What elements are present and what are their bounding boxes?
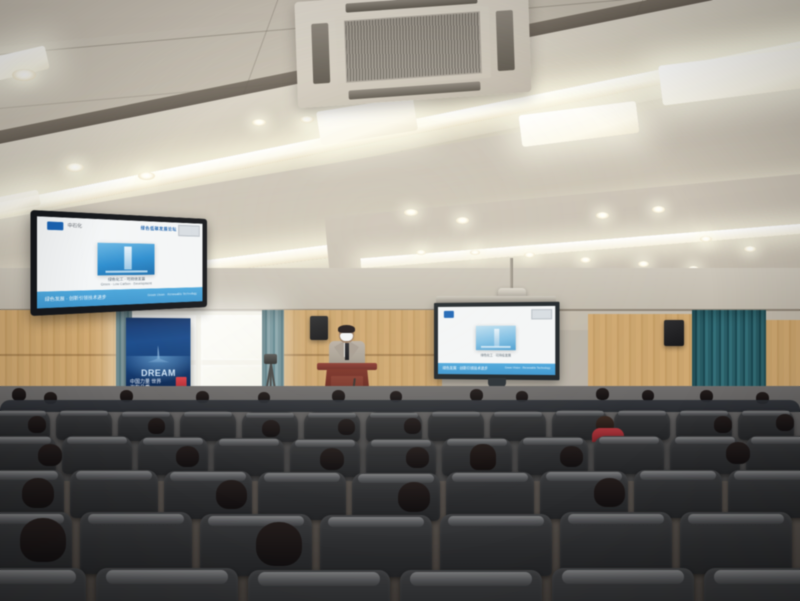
screen-slide-footer-left: 绿色发展 · 创新引领技术进步 — [443, 366, 488, 371]
auditorium-chair — [80, 512, 192, 574]
recessed-downlight — [404, 209, 418, 216]
recessed-downlight — [416, 250, 426, 255]
recessed-downlight — [138, 172, 155, 180]
tv-slide-footer-left: 绿色发展 · 创新引领技术进步 — [45, 294, 107, 303]
auditorium-chair — [594, 436, 664, 474]
audience-head — [594, 478, 625, 507]
audience-head — [22, 478, 54, 508]
auditorium-chair — [400, 570, 542, 601]
auditorium-chair — [552, 568, 694, 601]
auditorium-chair — [680, 512, 792, 574]
audience-seating — [0, 386, 800, 601]
tv-slide-header: 绿色低碳发展论坛 — [141, 225, 177, 233]
recessed-downlight — [12, 69, 36, 81]
recessed-downlight — [596, 212, 609, 219]
auditorium-chair — [746, 436, 800, 474]
recessed-downlight — [638, 261, 649, 267]
audience-head — [776, 414, 794, 431]
audience-head — [470, 444, 496, 470]
audience-head — [20, 518, 66, 562]
recessed-downlight — [700, 236, 712, 242]
recessed-downlight — [300, 116, 314, 123]
auditorium-chair — [0, 568, 86, 601]
wall-speaker — [664, 320, 684, 346]
audience-head — [726, 442, 750, 464]
tv-slide-subcaption: Green · Low Carbon · Development — [79, 281, 171, 287]
recessed-downlight — [744, 246, 756, 252]
tv-slide-image — [98, 242, 154, 275]
recessed-downlight — [456, 217, 469, 224]
audience-head — [338, 419, 355, 435]
auditorium-chair — [446, 472, 534, 520]
auditorium-chair — [728, 470, 800, 518]
projector-mount — [510, 258, 513, 290]
audience-head — [28, 416, 46, 433]
auditorium-chair — [704, 568, 800, 601]
presenter-hair — [338, 325, 355, 333]
auditorium-chair — [634, 470, 722, 518]
wall-mounted-tv: 中石化 绿色低碳发展论坛 绿色化工 · 可持续发展 Green · Low Ca… — [30, 210, 207, 316]
auditorium-chair — [258, 472, 346, 520]
ceiling-air-conditioner — [294, 0, 531, 108]
auditorium-chair — [320, 515, 432, 577]
projection-screen: 绿色化工 · 可持续发展 绿色发展 · 创新引领技术进步 Green Visio… — [434, 302, 560, 381]
auditorium-chair — [96, 568, 238, 601]
video-camera — [264, 354, 277, 364]
screen-slide-image — [476, 325, 516, 350]
audience-head — [176, 446, 199, 467]
auditorium-chair — [560, 512, 672, 574]
recessed-downlight — [524, 252, 535, 258]
audience-head — [256, 522, 302, 566]
presenter-tie — [345, 343, 349, 360]
screen-slide-footer-right: Green Vision · Renewable Technology — [505, 367, 551, 370]
audience-head — [320, 448, 344, 470]
audience-head — [262, 420, 280, 437]
auditorium-chair — [440, 514, 552, 576]
audience-head — [38, 444, 62, 466]
screen-slide-caption: 绿色化工 · 可持续发展 — [465, 353, 526, 357]
audience-head — [398, 482, 430, 512]
auditorium-chair — [248, 570, 390, 601]
recessed-downlight — [580, 257, 591, 263]
audience-head — [216, 480, 247, 509]
recessed-downlight — [470, 250, 480, 255]
audience-head — [714, 416, 732, 433]
audience-head — [406, 447, 429, 468]
conference-hall-photo: DREAM 中国力量 世界 汽车品质 NO.1 中石化 绿色低碳发展论坛 绿色化… — [0, 0, 800, 601]
audience-head — [560, 446, 583, 467]
tv-slide-logo-text: 中石化 — [68, 222, 82, 229]
auditorium-chair — [70, 470, 158, 518]
auditorium-chair — [428, 411, 484, 441]
recessed-downlight — [252, 119, 266, 126]
audience-head — [596, 388, 609, 400]
audience-head — [404, 418, 421, 434]
audience-head — [148, 418, 165, 434]
recessed-downlight — [652, 206, 665, 213]
auditorium-chair — [62, 436, 132, 474]
tv-slide-footer-right: Green Vision · Renewable Technology — [147, 292, 197, 298]
recessed-downlight — [66, 163, 84, 172]
